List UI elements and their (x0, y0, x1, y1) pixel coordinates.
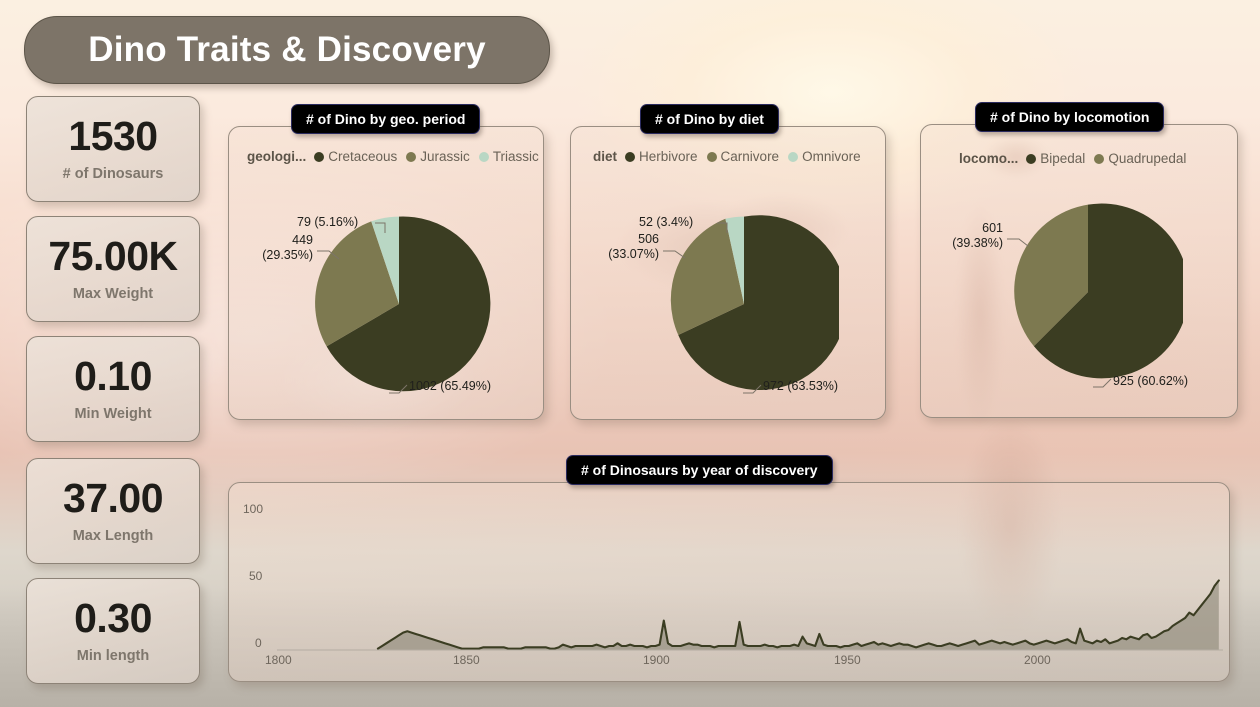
legend-geo-period: geologi... Cretaceous Jurassic Triassic (247, 149, 548, 164)
legend-locomotion: locomo... Bipedal Quadrupedal (959, 151, 1195, 166)
pie-label-quadrupedal-percent: (39.38%) (929, 236, 1003, 251)
legend-field-label: locomo... (959, 151, 1018, 166)
chart-title-geo-period: # of Dino by geo. period (291, 104, 480, 134)
pie-geo-period[interactable] (304, 209, 494, 399)
legend-item-label: Herbivore (639, 149, 698, 164)
y-axis-tick-0: 0 (255, 636, 262, 650)
page-title-text: Dino Traits & Discovery (88, 30, 486, 70)
pie-label-cretaceous: 1002 (65.49%) (409, 379, 491, 394)
legend-item-carnivore[interactable]: Carnivore (707, 149, 780, 164)
pie-label-jurassic-value: 449 (247, 233, 313, 248)
page-title: Dino Traits & Discovery (24, 16, 550, 84)
kpi-label: Min length (77, 648, 150, 664)
kpi-card-max-weight[interactable]: 75.00K Max Weight (26, 216, 200, 322)
legend-item-label: Quadrupedal (1108, 151, 1186, 166)
area-chart-line (378, 581, 1219, 649)
pie-label-bipedal: 925 (60.62%) (1113, 374, 1188, 389)
y-axis-tick-50: 50 (249, 569, 262, 583)
legend-item-omnivore[interactable]: Omnivore (788, 149, 861, 164)
kpi-label: Max Weight (73, 286, 153, 302)
kpi-value: 0.30 (74, 598, 152, 639)
kpi-label: Max Length (73, 528, 154, 544)
legend-swatch-icon (406, 152, 416, 162)
legend-item-label: Carnivore (721, 149, 780, 164)
x-axis-tick-1850: 1850 (453, 653, 480, 667)
legend-item-jurassic[interactable]: Jurassic (406, 149, 470, 164)
legend-diet: diet Herbivore Carnivore Omnivore (593, 149, 870, 164)
legend-item-label: Jurassic (420, 149, 470, 164)
legend-swatch-icon (788, 152, 798, 162)
legend-field-label: geologi... (247, 149, 306, 164)
chart-title-locomotion: # of Dino by locomotion (975, 102, 1164, 132)
dashboard-canvas: Dino Traits & Discovery 1530 # of Dinosa… (0, 0, 1260, 707)
pie-label-herbivore: 972 (63.53%) (763, 379, 838, 394)
kpi-card-min-length[interactable]: 0.30 Min length (26, 578, 200, 684)
legend-swatch-icon (625, 152, 635, 162)
legend-field-label: diet (593, 149, 617, 164)
x-axis-tick-1800: 1800 (265, 653, 292, 667)
pie-label-jurassic: 449 (29.35%) (247, 233, 313, 263)
legend-item-bipedal[interactable]: Bipedal (1026, 151, 1085, 166)
legend-swatch-icon (314, 152, 324, 162)
x-axis-tick-2000: 2000 (1024, 653, 1051, 667)
legend-item-label: Omnivore (802, 149, 861, 164)
pie-label-jurassic-percent: (29.35%) (247, 248, 313, 263)
area-chart-discovery[interactable] (277, 503, 1223, 651)
legend-item-label: Triassic (493, 149, 539, 164)
kpi-value: 1530 (68, 116, 157, 157)
legend-item-label: Bipedal (1040, 151, 1085, 166)
pie-label-quadrupedal-value: 601 (929, 221, 1003, 236)
x-axis-tick-1950: 1950 (834, 653, 861, 667)
kpi-label: # of Dinosaurs (63, 166, 164, 182)
chart-title-diet: # of Dino by diet (640, 104, 779, 134)
chart-panel-diet[interactable]: diet Herbivore Carnivore Omnivore (570, 126, 886, 420)
kpi-value: 75.00K (48, 236, 177, 277)
legend-item-cretaceous[interactable]: Cretaceous (314, 149, 397, 164)
chart-title-discovery-timeline: # of Dinosaurs by year of discovery (566, 455, 833, 485)
legend-swatch-icon (1026, 154, 1036, 164)
legend-item-label: Cretaceous (328, 149, 397, 164)
pie-label-carnivore: 506 (33.07%) (585, 232, 659, 262)
kpi-label: Min Weight (74, 406, 151, 422)
pie-label-triassic: 79 (5.16%) (297, 215, 358, 230)
chart-panel-locomotion[interactable]: locomo... Bipedal Quadrupedal 601 (39.38… (920, 124, 1238, 418)
legend-item-quadrupedal[interactable]: Quadrupedal (1094, 151, 1186, 166)
kpi-card-min-weight[interactable]: 0.10 Min Weight (26, 336, 200, 442)
chart-panel-discovery-timeline[interactable]: 100 50 0 1800 1850 1900 1950 2000 (228, 482, 1230, 682)
legend-swatch-icon (707, 152, 717, 162)
legend-swatch-icon (1094, 154, 1104, 164)
kpi-value: 37.00 (63, 478, 163, 519)
kpi-card-max-length[interactable]: 37.00 Max Length (26, 458, 200, 564)
area-chart-fill (378, 581, 1219, 650)
legend-swatch-icon (479, 152, 489, 162)
x-axis-tick-1900: 1900 (643, 653, 670, 667)
legend-item-herbivore[interactable]: Herbivore (625, 149, 698, 164)
pie-label-omnivore: 52 (3.4%) (639, 215, 693, 230)
pie-diet[interactable] (649, 209, 839, 399)
legend-item-triassic[interactable]: Triassic (479, 149, 539, 164)
kpi-value: 0.10 (74, 356, 152, 397)
pie-label-carnivore-value: 506 (585, 232, 659, 247)
pie-locomotion[interactable] (993, 197, 1183, 387)
pie-label-carnivore-percent: (33.07%) (585, 247, 659, 262)
chart-panel-geo-period[interactable]: geologi... Cretaceous Jurassic Triassic (228, 126, 544, 420)
kpi-card-total-dinosaurs[interactable]: 1530 # of Dinosaurs (26, 96, 200, 202)
pie-label-quadrupedal: 601 (39.38%) (929, 221, 1003, 251)
y-axis-tick-100: 100 (243, 502, 263, 516)
